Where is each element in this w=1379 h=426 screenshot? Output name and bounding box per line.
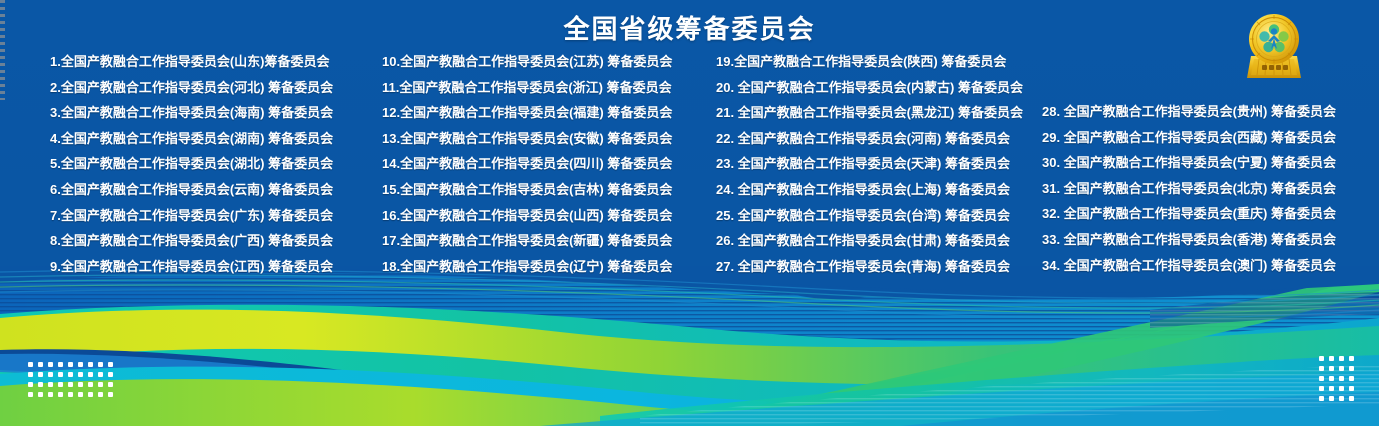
list-item: 7.全国产教融合工作指导委员会(广东) 筹备委员会 [50, 209, 380, 235]
list-item: 5.全国产教融合工作指导委员会(湖北) 筹备委员会 [50, 157, 380, 183]
dot-row [1319, 376, 1359, 386]
dot [38, 392, 43, 397]
list-item: 19.全国产教融合工作指导委员会(陕西) 筹备委员会 [716, 55, 1041, 81]
list-item: 3.全国产教融合工作指导委员会(海南) 筹备委员会 [50, 106, 380, 132]
list-item: 2.全国产教融合工作指导委员会(河北) 筹备委员会 [50, 81, 380, 107]
dot [1349, 376, 1354, 381]
dot [48, 382, 53, 387]
dot [58, 372, 63, 377]
dot-row [1319, 356, 1359, 366]
dot [38, 372, 43, 377]
dot [1339, 396, 1344, 401]
committee-list: 1.全国产教融合工作指导委员会(山东)筹备委员会2.全国产教融合工作指导委员会(… [0, 55, 1379, 295]
list-item: 25. 全国产教融合工作指导委员会(台湾) 筹备委员会 [716, 209, 1041, 235]
dot [58, 392, 63, 397]
list-item: 15.全国产教融合工作指导委员会(吉林) 筹备委员会 [382, 183, 717, 209]
dot [108, 362, 113, 367]
dot-row [1319, 366, 1359, 376]
committee-column-3: 19.全国产教融合工作指导委员会(陕西) 筹备委员会20. 全国产教融合工作指导… [716, 55, 1041, 285]
list-item: 13.全国产教融合工作指导委员会(安徽) 筹备委员会 [382, 132, 717, 158]
dot [38, 382, 43, 387]
dot [48, 372, 53, 377]
dot [28, 372, 33, 377]
dot [1349, 356, 1354, 361]
list-item: 31. 全国产教融合工作指导委员会(北京) 筹备委员会 [1042, 182, 1342, 208]
dot [1319, 366, 1324, 371]
dot [1339, 356, 1344, 361]
list-item: 12.全国产教融合工作指导委员会(福建) 筹备委员会 [382, 106, 717, 132]
poster-canvas: 全国省级筹备委员会 [0, 0, 1379, 426]
dot [68, 392, 73, 397]
committee-column-4: 28. 全国产教融合工作指导委员会(贵州) 筹备委员会29. 全国产教融合工作指… [1042, 105, 1342, 284]
dot-row [28, 382, 118, 392]
dot [1329, 376, 1334, 381]
dot [1329, 366, 1334, 371]
list-item: 34. 全国产教融合工作指导委员会(澳门) 筹备委员会 [1042, 259, 1342, 285]
list-item: 1.全国产教融合工作指导委员会(山东)筹备委员会 [50, 55, 380, 81]
committee-column-1: 1.全国产教融合工作指导委员会(山东)筹备委员会2.全国产教融合工作指导委员会(… [50, 55, 380, 285]
dot [98, 392, 103, 397]
dot [1319, 376, 1324, 381]
dot [68, 382, 73, 387]
list-item: 4.全国产教融合工作指导委员会(湖南) 筹备委员会 [50, 132, 380, 158]
dot [1349, 396, 1354, 401]
dot [1319, 386, 1324, 391]
dot-row [1319, 396, 1359, 406]
dot [88, 382, 93, 387]
dot [98, 362, 103, 367]
dot [68, 372, 73, 377]
dot-row [28, 392, 118, 402]
dot [108, 382, 113, 387]
dot [1329, 356, 1334, 361]
list-item: 23. 全国产教融合工作指导委员会(天津) 筹备委员会 [716, 157, 1041, 183]
dot [78, 382, 83, 387]
dot [98, 372, 103, 377]
dot [28, 392, 33, 397]
list-item: 20. 全国产教融合工作指导委员会(内蒙古) 筹备委员会 [716, 81, 1041, 107]
dot [1329, 386, 1334, 391]
list-item: 17.全国产教融合工作指导委员会(新疆) 筹备委员会 [382, 234, 717, 260]
dot [1349, 366, 1354, 371]
dot [1339, 386, 1344, 391]
dot [28, 362, 33, 367]
list-item: 21. 全国产教融合工作指导委员会(黑龙江) 筹备委员会 [716, 106, 1041, 132]
dot [88, 392, 93, 397]
dot [1349, 386, 1354, 391]
dot [58, 362, 63, 367]
list-item: 9.全国产教融合工作指导委员会(江西) 筹备委员会 [50, 260, 380, 286]
dot [78, 392, 83, 397]
dot-row [1319, 386, 1359, 396]
dot-row [28, 372, 118, 382]
dot [78, 362, 83, 367]
list-item: 14.全国产教融合工作指导委员会(四川) 筹备委员会 [382, 157, 717, 183]
dot [1319, 396, 1324, 401]
list-item: 18.全国产教融合工作指导委员会(辽宁) 筹备委员会 [382, 260, 717, 286]
dot [108, 372, 113, 377]
list-item: 32. 全国产教融合工作指导委员会(重庆) 筹备委员会 [1042, 207, 1342, 233]
dot [58, 382, 63, 387]
dot [38, 362, 43, 367]
list-item: 8.全国产教融合工作指导委员会(广西) 筹备委员会 [50, 234, 380, 260]
dot [48, 362, 53, 367]
list-item: 29. 全国产教融合工作指导委员会(西藏) 筹备委员会 [1042, 131, 1342, 157]
dot [1339, 366, 1344, 371]
dot [28, 382, 33, 387]
dot-grid-left [28, 362, 118, 402]
dot-grid-right [1319, 356, 1359, 406]
page-title: 全国省级筹备委员会 [0, 9, 1379, 46]
list-item: 24. 全国产教融合工作指导委员会(上海) 筹备委员会 [716, 183, 1041, 209]
dot [108, 392, 113, 397]
dot [1339, 376, 1344, 381]
list-item: 33. 全国产教融合工作指导委员会(香港) 筹备委员会 [1042, 233, 1342, 259]
dot [78, 372, 83, 377]
dot [88, 362, 93, 367]
dot [1329, 396, 1334, 401]
list-item: 10.全国产教融合工作指导委员会(江苏) 筹备委员会 [382, 55, 717, 81]
dot [68, 362, 73, 367]
dot-row [28, 362, 118, 372]
dot [1319, 356, 1324, 361]
list-item: 11.全国产教融合工作指导委员会(浙江) 筹备委员会 [382, 81, 717, 107]
list-item: 26. 全国产教融合工作指导委员会(甘肃) 筹备委员会 [716, 234, 1041, 260]
list-item: 16.全国产教融合工作指导委员会(山西) 筹备委员会 [382, 209, 717, 235]
dot [48, 392, 53, 397]
committee-column-2: 10.全国产教融合工作指导委员会(江苏) 筹备委员会11.全国产教融合工作指导委… [382, 55, 717, 285]
list-item: 28. 全国产教融合工作指导委员会(贵州) 筹备委员会 [1042, 105, 1342, 131]
dot [98, 382, 103, 387]
list-item: 22. 全国产教融合工作指导委员会(河南) 筹备委员会 [716, 132, 1041, 158]
list-item: 27. 全国产教融合工作指导委员会(青海) 筹备委员会 [716, 260, 1041, 286]
list-item: 6.全国产教融合工作指导委员会(云南) 筹备委员会 [50, 183, 380, 209]
dot [88, 372, 93, 377]
list-item: 30. 全国产教融合工作指导委员会(宁夏) 筹备委员会 [1042, 156, 1342, 182]
